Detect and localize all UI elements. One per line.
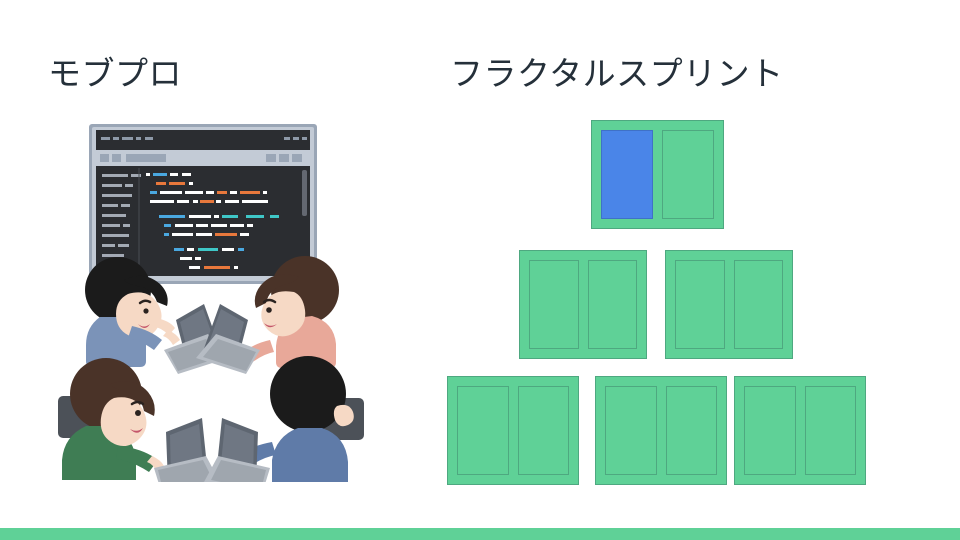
sprint-card-bottom-2-pane-right[interactable] [666, 386, 718, 475]
sprint-card-middle-2[interactable] [665, 250, 793, 359]
sprint-card-bottom-2[interactable] [595, 376, 727, 485]
sprint-card-top-1-pane-current[interactable] [601, 130, 653, 219]
sprint-card-bottom-1-pane-left[interactable] [457, 386, 509, 475]
sprint-card-middle-1-pane-left[interactable] [529, 260, 579, 349]
sprint-card-middle-1[interactable] [519, 250, 647, 359]
page-title-left: モブプロ [48, 57, 182, 90]
bottom-accent-bar [0, 528, 960, 540]
person-bottom-left [58, 358, 164, 480]
sprint-card-bottom-3-pane-right[interactable] [805, 386, 857, 475]
sprint-card-bottom-3[interactable] [734, 376, 866, 485]
sprint-card-top-1-pane-upcoming[interactable] [662, 130, 714, 219]
sprint-card-bottom-2-pane-left[interactable] [605, 386, 657, 475]
sprint-card-bottom-3-pane-left[interactable] [744, 386, 796, 475]
mob-programming-illustration [56, 112, 368, 482]
sprint-card-middle-2-pane-right[interactable] [734, 260, 784, 349]
page-title-right: フラクタルスプリント [450, 57, 784, 90]
sprint-card-bottom-1[interactable] [447, 376, 579, 485]
sprint-card-middle-1-pane-right[interactable] [588, 260, 638, 349]
slide-canvas: モブプロ フラクタルスプリント [0, 0, 960, 540]
sprint-card-middle-2-pane-left[interactable] [675, 260, 725, 349]
sprint-card-bottom-1-pane-right[interactable] [518, 386, 570, 475]
sprint-card-top-1[interactable] [591, 120, 724, 229]
